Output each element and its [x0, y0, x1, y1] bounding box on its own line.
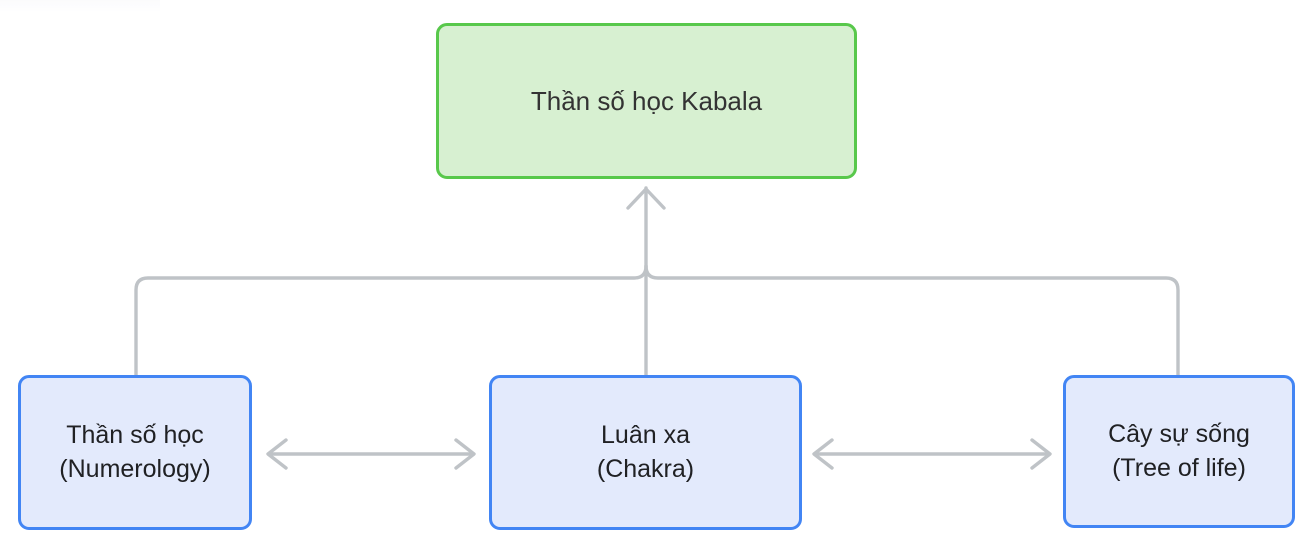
diagram-canvas: Thần số học Kabala Thần số học (Numerolo… [0, 0, 1316, 550]
node-numerology[interactable]: Thần số học (Numerology) [18, 375, 252, 530]
node-label: Thần số học (Numerology) [21, 419, 249, 486]
connector-numerology-to-bus [136, 266, 646, 376]
node-tree-of-life[interactable]: Cây sự sống (Tree of life) [1063, 375, 1295, 528]
node-chakra[interactable]: Luân xa (Chakra) [489, 375, 802, 530]
node-label: Luân xa (Chakra) [492, 419, 799, 486]
connector-tree-of-life-to-bus [646, 266, 1178, 376]
node-than-so-hoc-kabala[interactable]: Thần số học Kabala [436, 23, 857, 179]
node-label: Cây sự sống (Tree of life) [1066, 418, 1292, 485]
node-label: Thần số học Kabala [439, 84, 854, 119]
